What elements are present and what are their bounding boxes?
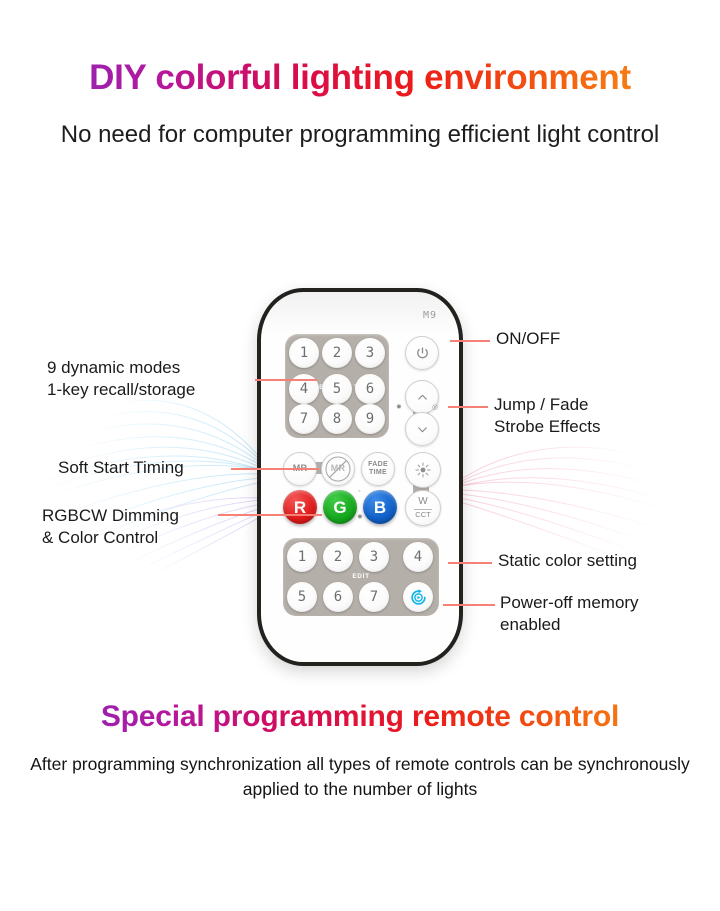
mode-key-6[interactable]: 6 xyxy=(355,374,385,404)
callout-jump-fade: Jump / Fade Strobe Effects xyxy=(494,394,600,438)
callout-on-off: ON/OFF xyxy=(496,328,560,350)
mode-key-9[interactable]: 9 xyxy=(355,404,385,434)
edit-key-4[interactable]: 4 xyxy=(403,542,433,572)
white-cct-label-top: W xyxy=(414,497,431,510)
slash-overlay-icon xyxy=(322,453,354,485)
leader-line-dynamic-modes xyxy=(255,379,317,381)
power-button[interactable] xyxy=(405,336,439,370)
leader-line-on-off xyxy=(450,340,490,342)
leader-line-power-memory xyxy=(443,604,495,606)
leader-line-rgbcw xyxy=(218,514,322,516)
chevron-down-icon xyxy=(416,423,429,436)
sparkle-small-icon: ✸ xyxy=(357,514,363,521)
leader-line-static-color xyxy=(448,562,492,564)
mode-key-3[interactable]: 3 xyxy=(355,338,385,368)
leader-line-soft-start xyxy=(231,468,319,470)
red-button[interactable]: R xyxy=(283,490,317,524)
edit-key-3[interactable]: 3 xyxy=(359,542,389,572)
chevron-up-icon xyxy=(416,391,429,404)
mode-key-7[interactable]: 7 xyxy=(289,404,319,434)
edit-key-5[interactable]: 5 xyxy=(287,582,317,612)
blue-button[interactable]: B xyxy=(363,490,397,524)
sun-small-icon: ✸ xyxy=(396,404,402,411)
edit-key-7[interactable]: 7 xyxy=(359,582,389,612)
power-icon xyxy=(415,346,430,361)
fade-time-label: FADE TIME xyxy=(368,461,388,476)
mode-key-2[interactable]: 2 xyxy=(322,338,352,368)
power-memory-icon xyxy=(409,588,428,607)
callout-power-memory: Power-off memory enabled xyxy=(500,592,639,636)
mode-key-5[interactable]: 5 xyxy=(322,374,352,404)
mode-key-1[interactable]: 1 xyxy=(289,338,319,368)
mode-key-8[interactable]: 8 xyxy=(322,404,352,434)
footer-subtitle: After programming synchronization all ty… xyxy=(0,734,720,802)
callout-rgbcw: RGBCW Dimming & Color Control xyxy=(42,505,179,549)
model-label: M9 xyxy=(423,310,437,321)
edit-key-1[interactable]: 1 xyxy=(287,542,317,572)
remote-control: M9 MODE / FADE TIME 1 2 3 4 5 6 7 8 9 ✸ … xyxy=(257,288,463,666)
white-cct-button[interactable]: W CCT xyxy=(405,490,441,526)
sun-icon xyxy=(414,461,432,479)
page-subtitle: No need for computer programming efficie… xyxy=(0,98,720,151)
leader-line-jump-fade xyxy=(448,406,488,408)
footer-title: Special programming remote control xyxy=(0,700,720,734)
brightness-button[interactable] xyxy=(405,452,441,488)
edit-keypad-label: EDIT xyxy=(283,573,439,580)
green-button[interactable]: G xyxy=(323,490,357,524)
circle-small-icon: ◦ xyxy=(358,488,360,495)
power-memory-button[interactable] xyxy=(403,582,433,612)
edit-key-6[interactable]: 6 xyxy=(323,582,353,612)
edit-key-2[interactable]: 2 xyxy=(323,542,353,572)
fade-time-button[interactable]: FADE TIME xyxy=(361,452,395,486)
memory-clear-button[interactable]: MR xyxy=(321,452,355,486)
callout-static-color: Static color setting xyxy=(498,550,637,572)
footer: Special programming remote control After… xyxy=(0,700,720,802)
callout-dynamic-modes: 9 dynamic modes 1-key recall/storage xyxy=(47,357,195,401)
callout-soft-start: Soft Start Timing xyxy=(58,457,184,479)
header: DIY colorful lighting environment No nee… xyxy=(0,0,720,151)
white-cct-label-bottom: CCT xyxy=(414,510,431,519)
brightness-down-button[interactable] xyxy=(405,412,439,446)
target-small-icon: ◎ xyxy=(432,404,438,411)
page-title: DIY colorful lighting environment xyxy=(0,0,720,98)
